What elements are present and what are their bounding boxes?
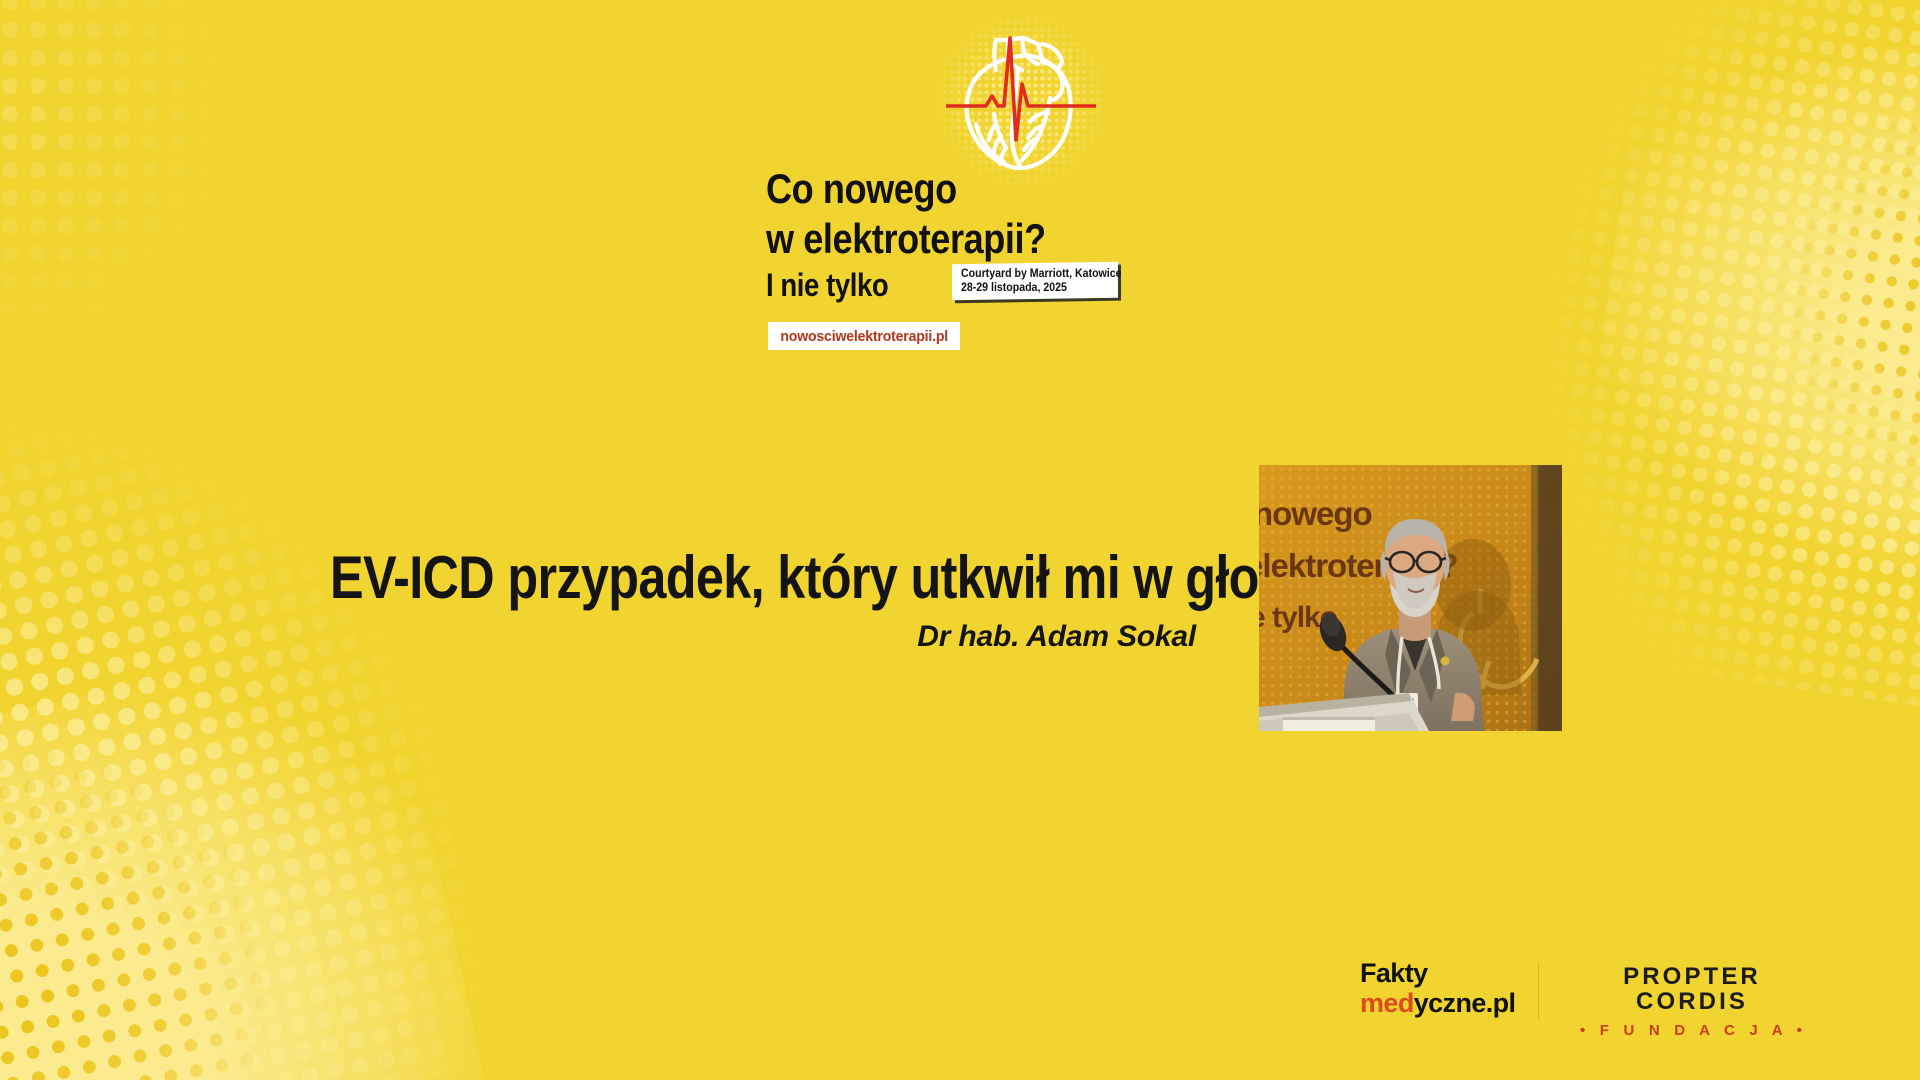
footer-logo-divider <box>1538 962 1539 1020</box>
halftone-inverse-right <box>1632 42 1920 528</box>
talk-speaker-name: Dr hab. Adam Sokal <box>0 620 1196 654</box>
fakty-medyczne-logo[interactable]: Fakty medyczne.pl <box>1360 960 1515 1017</box>
halftone-pattern-top-left <box>0 0 300 380</box>
propter-cordis-name: PROPTER CORDIS <box>1564 964 1820 1014</box>
event-title-line-1: Co nowego <box>766 168 957 209</box>
halftone-inverse-left <box>0 651 449 1080</box>
svg-text:nowego: nowego <box>1259 495 1372 532</box>
venue-info-box: Courtyard by Marriott, Katowice 28-29 li… <box>952 262 1118 301</box>
fakty-logo-rest: yczne.pl <box>1414 988 1516 1018</box>
event-title-line-2: w elektroterapii? <box>766 218 1046 259</box>
presentation-slide: Co nowego w elektroterapii? I nie tylko … <box>0 0 1920 1080</box>
halftone-core-right <box>1576 6 1920 593</box>
venue-location: Courtyard by Marriott, Katowice <box>961 268 1105 282</box>
heart-ecg-icon <box>946 18 1096 178</box>
talk-title: EV-ICD przypadek, który utkwił mi w głow… <box>330 548 1338 608</box>
website-url-text: nowosciwelektroterapii.pl <box>780 328 948 345</box>
fakty-logo-line-1: Fakty <box>1360 960 1515 987</box>
propter-cordis-logo[interactable]: PROPTER CORDIS • F U N D A C J A • <box>1564 964 1820 1038</box>
event-title-line-3: I nie tylko <box>766 270 888 301</box>
speaker-photo: nowego elektroterapii? e tylko <box>1259 465 1562 731</box>
halftone-pattern-left <box>0 245 578 1080</box>
propter-cordis-subtitle: • F U N D A C J A • <box>1564 1023 1820 1038</box>
fakty-logo-accent: med <box>1360 988 1414 1018</box>
event-logo-block: Co nowego w elektroterapii? I nie tylko … <box>766 18 1166 348</box>
halftone-core-left <box>0 631 497 1080</box>
footer-logos: Fakty medyczne.pl PROPTER CORDIS • F U N… <box>1360 960 1820 1030</box>
website-url-badge[interactable]: nowosciwelektroterapii.pl <box>768 322 960 350</box>
venue-dates: 28-29 listopada, 2025 <box>961 282 1105 296</box>
